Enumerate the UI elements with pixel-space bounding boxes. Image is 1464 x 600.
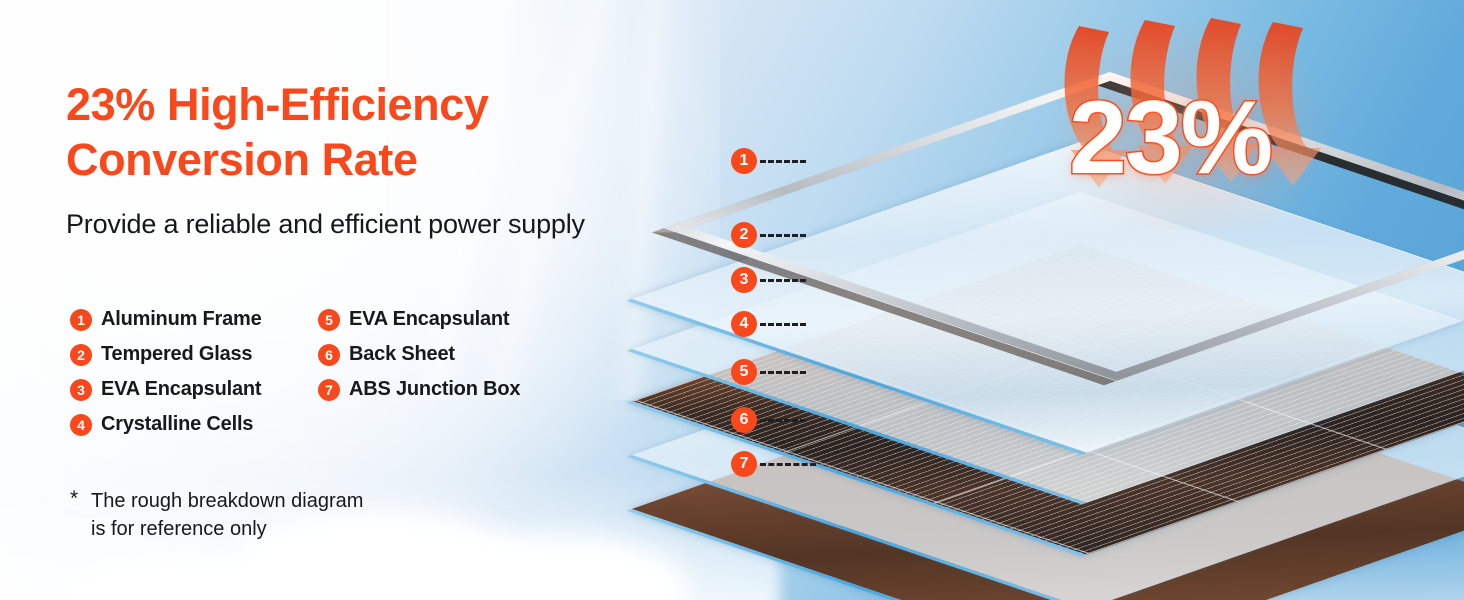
callout-badge: 4	[731, 311, 757, 337]
callout-badge: 5	[731, 359, 757, 385]
leader-line	[760, 160, 806, 163]
list-item: 7 ABS Junction Box	[318, 372, 558, 407]
legend-badge: 4	[70, 414, 92, 436]
list-item: 2 Tempered Glass	[70, 337, 310, 372]
callout-7[interactable]: 7	[731, 451, 816, 477]
callout-badge: 7	[731, 451, 757, 477]
legend-label: Aluminum Frame	[101, 308, 262, 331]
list-item: 6 Back Sheet	[318, 337, 558, 372]
list-item: 5 EVA Encapsulant	[318, 302, 558, 337]
footnote-text: The rough breakdown diagram is for refer…	[91, 487, 363, 544]
list-item: 3 EVA Encapsulant	[70, 372, 310, 407]
solar-panel-banner: 23% 1 2 3 4 5 6 7 23% High-Efficiency Co…	[0, 0, 1464, 600]
list-item: 4 Crystalline Cells	[70, 407, 310, 442]
leader-line	[760, 323, 806, 326]
footnote-marker: *	[70, 487, 78, 511]
legend-label: Crystalline Cells	[101, 413, 253, 436]
legend-badge: 3	[70, 379, 92, 401]
efficiency-glow	[1040, 10, 1340, 230]
list-item: 1 Aluminum Frame	[70, 302, 310, 337]
leader-line	[760, 234, 806, 237]
callout-6[interactable]: 6	[731, 407, 806, 433]
legend-label: ABS Junction Box	[349, 378, 520, 401]
leader-line	[760, 419, 806, 422]
callout-3[interactable]: 3	[731, 267, 806, 293]
callout-5[interactable]: 5	[731, 359, 806, 385]
legend-label: EVA Encapsulant	[349, 308, 509, 331]
leader-line	[760, 371, 806, 374]
legend-badge: 5	[318, 309, 340, 331]
legend-badge: 2	[70, 344, 92, 366]
legend-label: Back Sheet	[349, 343, 455, 366]
page-subtitle: Provide a reliable and efficient power s…	[66, 209, 585, 240]
legend-label: Tempered Glass	[101, 343, 252, 366]
legend-badge: 7	[318, 379, 340, 401]
callout-badge: 6	[731, 407, 757, 433]
callout-2[interactable]: 2	[731, 222, 806, 248]
leader-line	[760, 463, 816, 466]
legend-badge: 6	[318, 344, 340, 366]
leader-line	[760, 279, 806, 282]
callout-badge: 2	[731, 222, 757, 248]
callout-1[interactable]: 1	[731, 148, 806, 174]
legend-label: EVA Encapsulant	[101, 378, 261, 401]
legend-badge: 1	[70, 309, 92, 331]
callout-badge: 1	[731, 148, 757, 174]
layer-legend-list: 1 Aluminum Frame 2 Tempered Glass 3 EVA …	[70, 302, 558, 442]
callout-badge: 3	[731, 267, 757, 293]
callout-4[interactable]: 4	[731, 311, 806, 337]
page-title: 23% High-Efficiency Conversion Rate	[66, 77, 489, 188]
